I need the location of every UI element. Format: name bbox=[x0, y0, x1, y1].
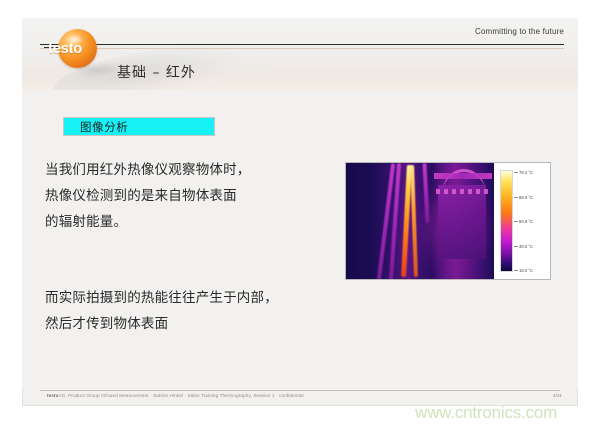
footer-credits-text: AG, Product Group Infrared Measurement ·… bbox=[59, 393, 304, 398]
scale-label: 18.0 °C bbox=[519, 268, 533, 273]
body-paragraph-1: 当我们用红外热像仪观察物体时， 热像仪检测到的是来自物体表面 的辐射能量。 bbox=[45, 157, 251, 235]
thermal-hotspot bbox=[410, 165, 418, 277]
temperature-scale: 78.4 °C 68.0 °C 50.0 °C 30.0 °C 18.0 °C bbox=[494, 163, 550, 279]
footer-divider bbox=[40, 390, 560, 391]
thermal-busbar bbox=[434, 173, 492, 179]
slide-header: Committing to the future testo 基础 – 红外 bbox=[22, 18, 578, 90]
scale-label: 68.0 °C bbox=[519, 195, 533, 200]
footer-credits: testoAG, Product Group Infrared Measurem… bbox=[47, 393, 304, 398]
presentation-slide: Committing to the future testo 基础 – 红外 图… bbox=[22, 18, 578, 406]
footer-brand: testo bbox=[47, 393, 59, 398]
scale-tick bbox=[514, 172, 518, 173]
thermal-cable bbox=[422, 163, 429, 223]
thermal-image-figure: 78.4 °C 68.0 °C 50.0 °C 30.0 °C 18.0 °C bbox=[345, 162, 551, 280]
brand-tagline: Committing to the future bbox=[475, 27, 564, 36]
header-divider-accent bbox=[40, 48, 564, 49]
footer-page-number: 4/21 bbox=[553, 393, 562, 398]
header-divider-line bbox=[40, 44, 564, 45]
thermal-image bbox=[346, 163, 494, 279]
scale-tick bbox=[514, 197, 518, 198]
slide-body: 图像分析 当我们用红外热像仪观察物体时， 热像仪检测到的是来自物体表面 的辐射能… bbox=[22, 90, 578, 390]
scale-label: 30.0 °C bbox=[519, 244, 533, 249]
testo-logo-text: testo bbox=[48, 40, 82, 57]
scale-tick bbox=[514, 221, 518, 222]
body-paragraph-2: 而实际拍摄到的热能往往产生于内部， 然后才传到物体表面 bbox=[45, 285, 278, 337]
thermal-panel-body bbox=[438, 185, 486, 259]
scale-label: 78.4 °C bbox=[519, 170, 533, 175]
scale-tick bbox=[514, 270, 518, 271]
slide-title: 基础 – 红外 bbox=[117, 62, 196, 82]
thermal-terminal-row bbox=[436, 189, 490, 194]
section-subtitle-label: 图像分析 bbox=[80, 119, 128, 135]
scale-tick bbox=[514, 246, 518, 247]
site-watermark: www.cntronics.com bbox=[415, 403, 557, 423]
temperature-colorbar bbox=[500, 170, 513, 272]
scale-label: 50.0 °C bbox=[519, 219, 533, 224]
